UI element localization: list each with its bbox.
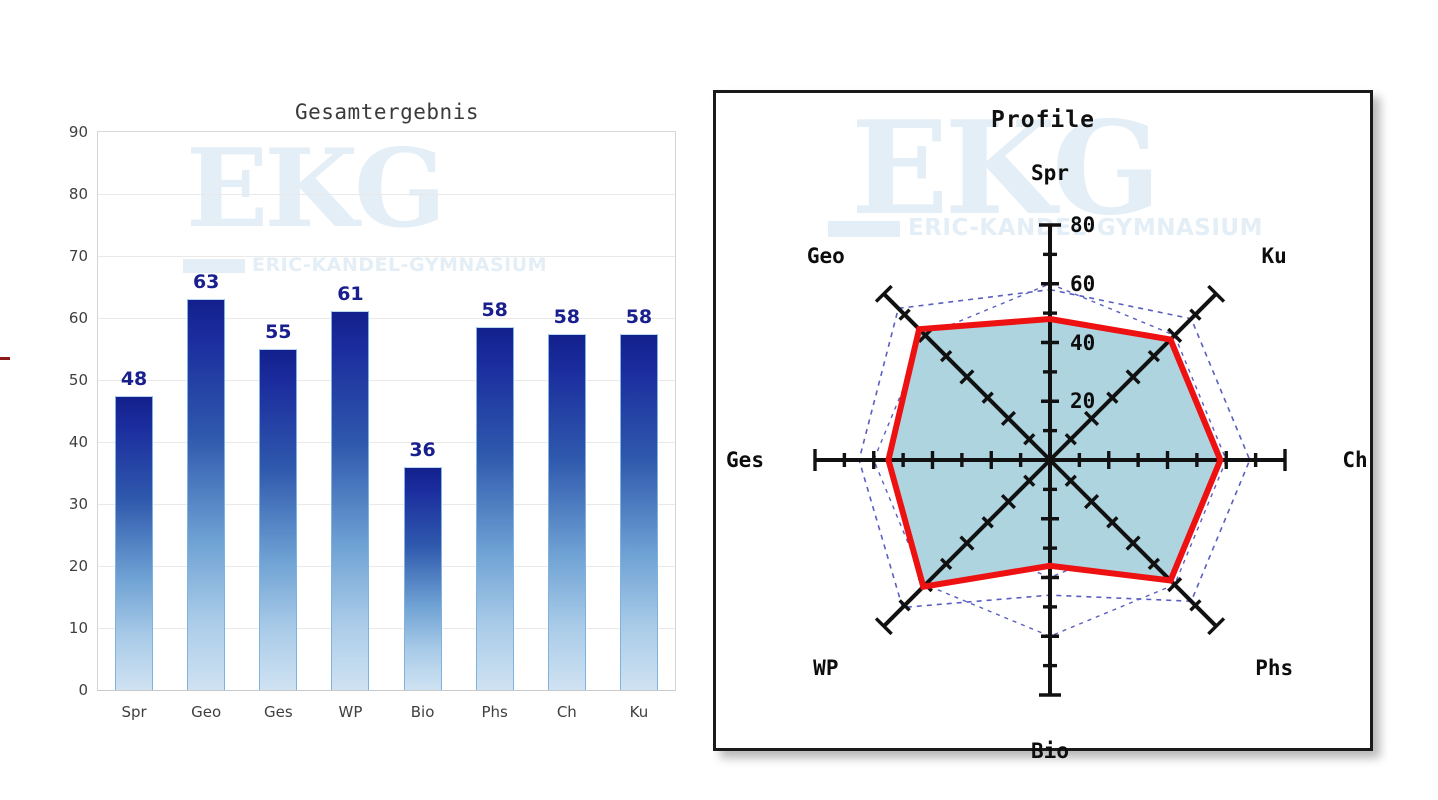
x-tick-label: Phs <box>482 703 508 721</box>
x-tick-label: Ku <box>630 703 649 721</box>
y-tick-label: 50 <box>42 371 88 389</box>
y-tick-label: 20 <box>42 557 88 575</box>
radar-axis-label-geo: Geo <box>807 244 845 268</box>
radar-axis-label-phs: Phs <box>1255 656 1293 680</box>
y-tick-label: 90 <box>42 123 88 141</box>
radar-axis-label-bio: Bio <box>1031 739 1069 763</box>
radar-radial-label: 80 <box>1070 213 1095 237</box>
x-tick-label: WP <box>338 703 362 721</box>
y-tick-label: 10 <box>42 619 88 637</box>
radar-radial-label: 20 <box>1070 389 1095 413</box>
radar-radial-label: 60 <box>1070 272 1095 296</box>
radar-axis-label-spr: Spr <box>1031 161 1069 185</box>
radar-axis-label-ku: Ku <box>1262 244 1287 268</box>
x-tick-label: Ch <box>557 703 577 721</box>
x-tick-label: Geo <box>191 703 221 721</box>
y-tick-label: 60 <box>42 309 88 327</box>
y-tick-label: 80 <box>42 185 88 203</box>
radar-radial-label: 40 <box>1070 331 1095 355</box>
radar-chart-graphic <box>716 93 1376 754</box>
screenshot-root: Gesamtergebnis EKG ERIC-KANDEL-GYMNASIUM… <box>0 0 1438 800</box>
y-tick-label: 40 <box>42 433 88 451</box>
x-tick-label: Ges <box>264 703 293 721</box>
y-tick-label: 30 <box>42 495 88 513</box>
x-tick-label: Spr <box>121 703 146 721</box>
bar-chart-x-axis: SprGeoGesWPBioPhsChKu <box>98 95 675 745</box>
radar-axis-label-ges: Ges <box>726 448 764 472</box>
radar-axis-label-wp: WP <box>813 656 838 680</box>
x-tick-label: Bio <box>411 703 435 721</box>
bar-chart-panel: Gesamtergebnis EKG ERIC-KANDEL-GYMNASIUM… <box>0 95 700 745</box>
bar-chart-y-axis: 0102030405060708090 <box>36 131 88 691</box>
y-tick-label: 70 <box>42 247 88 265</box>
radar-axis-label-ch: Ch <box>1342 448 1367 472</box>
y-tick-label: 0 <box>42 681 88 699</box>
radar-chart-panel: EKG ERIC-KANDEL-GYMNASIUM Profile SprKuC… <box>713 90 1373 751</box>
